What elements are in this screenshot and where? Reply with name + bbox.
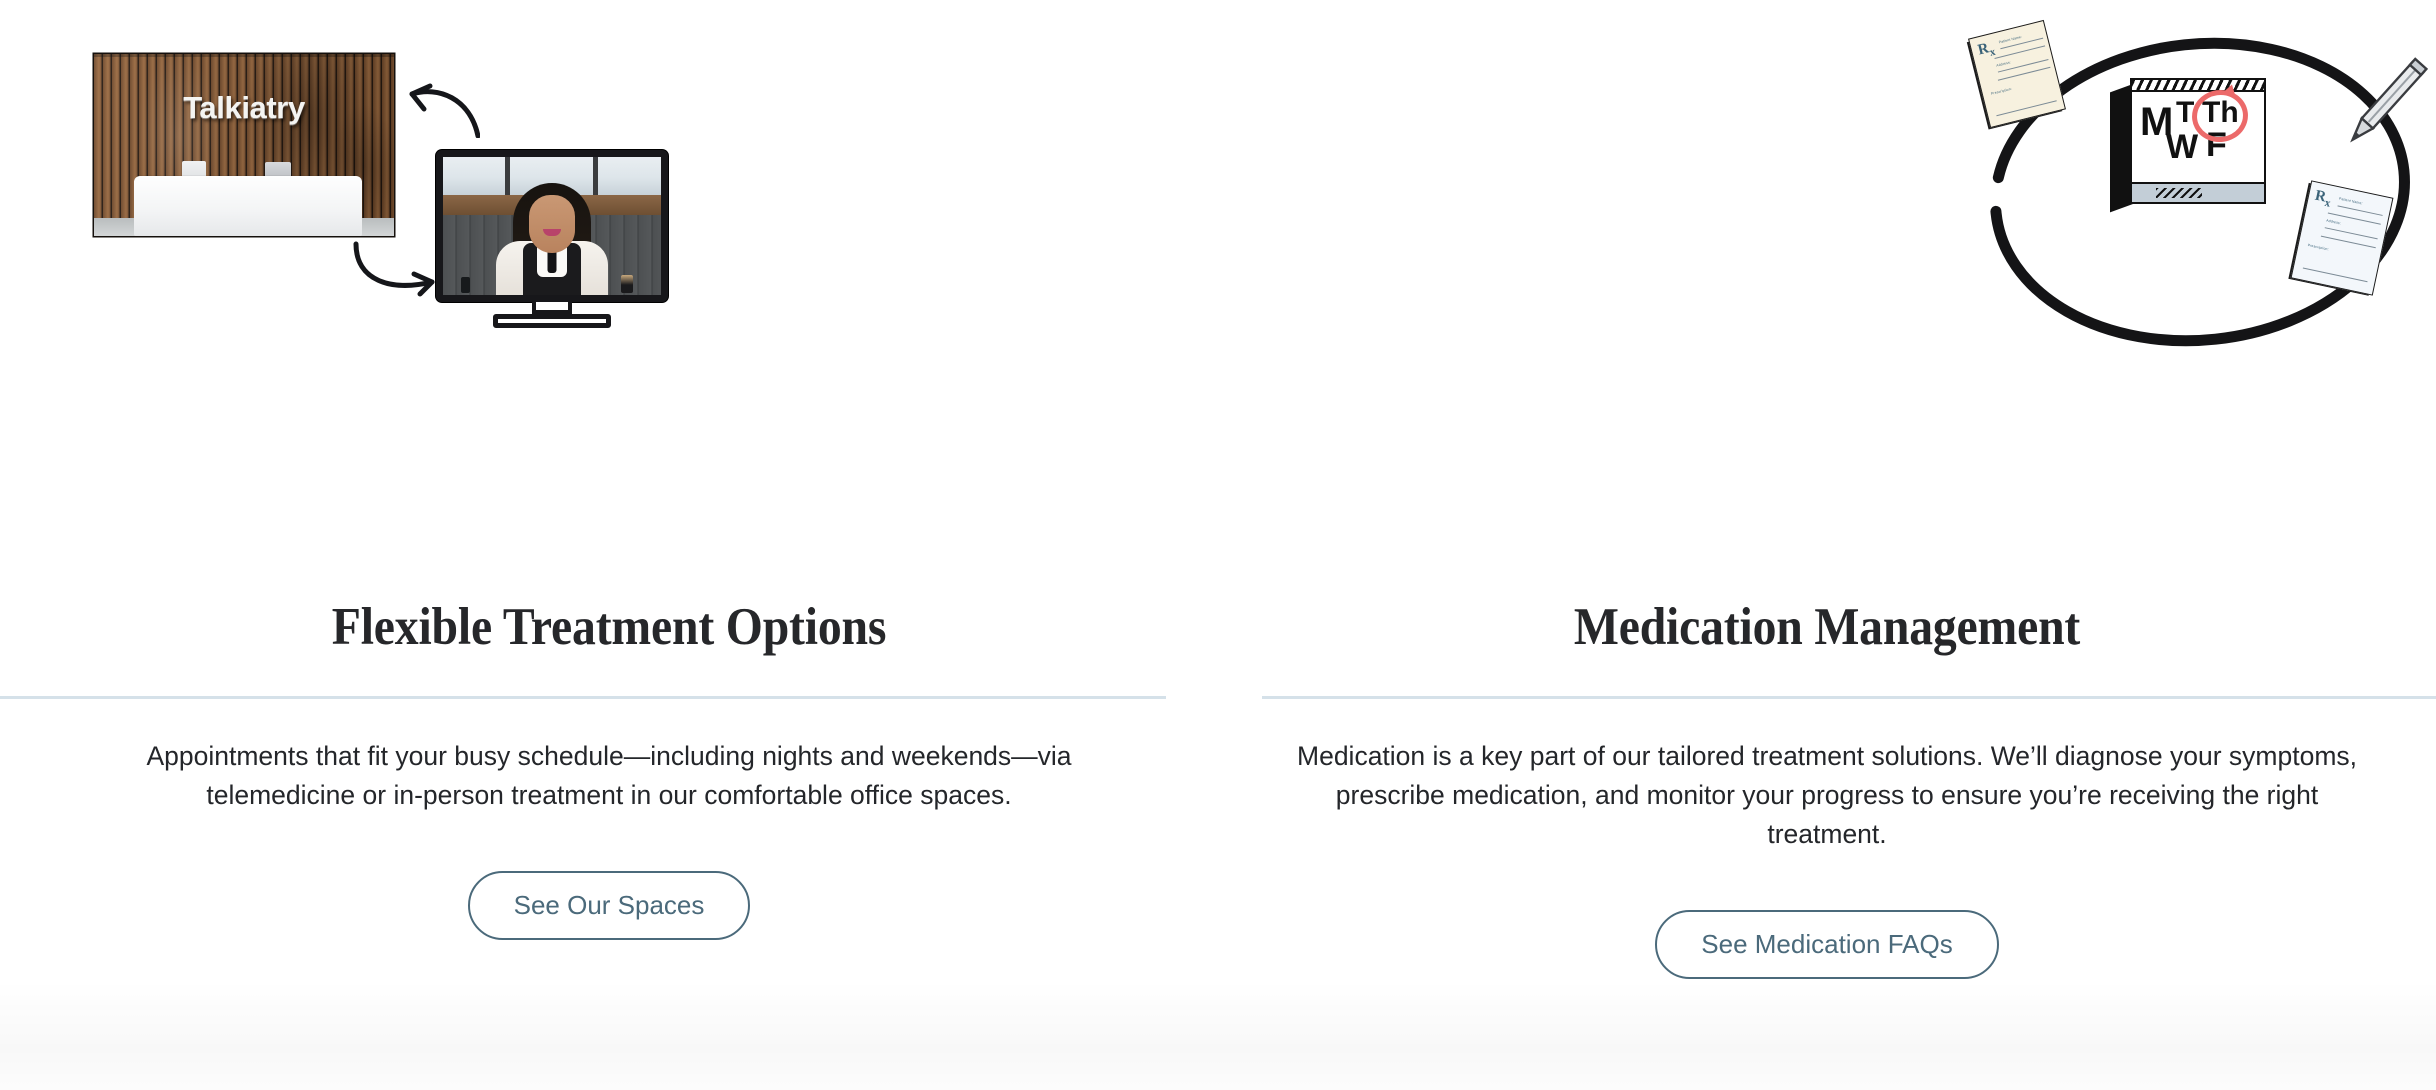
rx-label-patient-name: Patient Name: <box>2339 197 2363 206</box>
right-text-block: Medication Management Medication is a ke… <box>1218 600 2436 979</box>
bottle-left <box>461 277 470 293</box>
rx-label-prescription: Prescription: <box>1991 87 2013 96</box>
description-text: Appointments that fit your busy schedule… <box>79 737 1139 815</box>
divider <box>0 696 1166 699</box>
telemedicine-monitor <box>436 150 668 328</box>
office-and-telemedicine-illustration: Talkiatry <box>0 0 1218 600</box>
page-title: Medication Management <box>1279 600 2375 656</box>
calendar-day-w: W <box>2166 130 2198 164</box>
see-our-spaces-button[interactable]: See Our Spaces <box>468 871 751 940</box>
left-text-block: Flexible Treatment Options Appointments … <box>0 600 1218 940</box>
left-button-wrap: See Our Spaces <box>0 871 1218 940</box>
card-flexible-treatment-options: Talkiatry <box>0 0 1218 1090</box>
pen-icon <box>2330 48 2436 158</box>
page-title: Flexible Treatment Options <box>61 600 1157 656</box>
description-text: Medication is a key part of our tailored… <box>1297 737 2357 854</box>
reception-desk <box>134 176 362 236</box>
monitor-neck <box>532 302 572 314</box>
monitor-frame <box>436 150 668 302</box>
two-column-layout: Talkiatry <box>0 0 2436 1090</box>
medication-cycle-illustration: Rx Patient Name: Address: Prescription: … <box>1218 0 2436 600</box>
right-button-wrap: See Medication FAQs <box>1218 910 2436 979</box>
card-medication-management: Rx Patient Name: Address: Prescription: … <box>1218 0 2436 1090</box>
monitor-base <box>493 314 611 328</box>
person-face <box>529 195 575 253</box>
arrow-curving-right-icon <box>350 238 446 298</box>
treatment-options-section: Talkiatry <box>0 0 2436 1090</box>
see-medication-faqs-button[interactable]: See Medication FAQs <box>1655 910 1998 979</box>
bottle-right <box>621 275 633 293</box>
arrow-curving-left-icon <box>400 82 480 138</box>
wall-calendar: M T Th W F <box>2130 78 2266 204</box>
office-sign-logo: Talkiatry <box>183 90 305 126</box>
rx-label-address: Address: <box>2326 218 2341 225</box>
scribble <box>2156 188 2202 198</box>
calendar-footer <box>2130 184 2266 204</box>
rx-label-prescription: Prescription: <box>2307 243 2329 251</box>
office-reception-photo: Talkiatry <box>94 54 394 236</box>
rx-symbol: Rx <box>2313 189 2333 210</box>
rx-label-address: Address: <box>1996 60 2012 68</box>
monitor-screen <box>443 157 661 295</box>
divider <box>1262 696 2436 699</box>
